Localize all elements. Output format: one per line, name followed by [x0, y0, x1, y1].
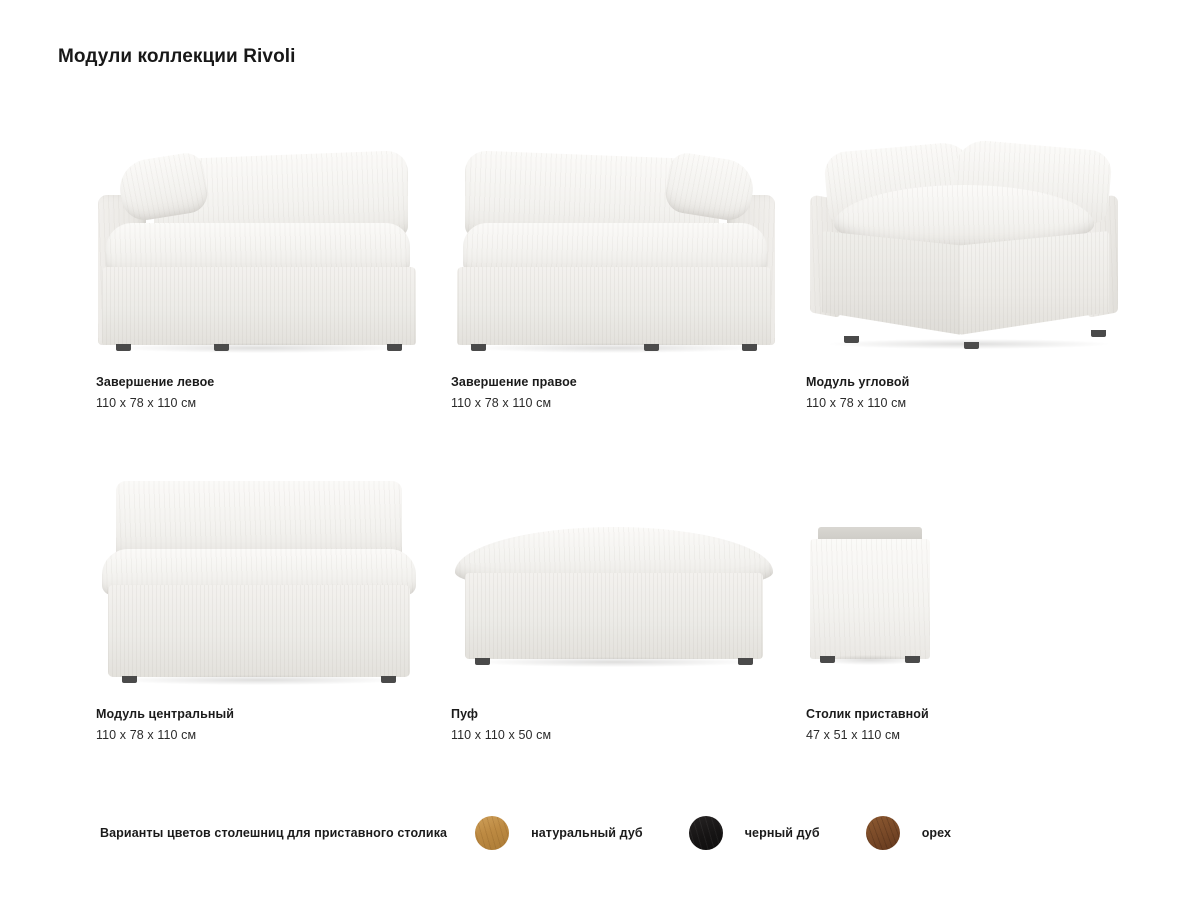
sofa-base — [102, 267, 416, 345]
module-image-pouf — [449, 472, 779, 687]
module-name: Столик приставной — [806, 708, 929, 721]
sofa-base — [457, 267, 771, 345]
pouf-base — [465, 573, 763, 659]
pouf-illustration — [449, 472, 779, 687]
natural-oak-label: натуральный дуб — [531, 826, 643, 840]
catalog-page: Модули коллекции Rivoli — [0, 0, 1200, 900]
color-option-natural-oak[interactable]: натуральный дуб — [475, 816, 643, 850]
side-table-body — [810, 539, 930, 659]
sofa-illustration — [449, 140, 779, 355]
module-card-left-end[interactable]: Завершение левое 110 x 78 x 110 см — [58, 140, 413, 410]
module-card-pouf[interactable]: Пуф 110 x 110 x 50 см — [413, 472, 768, 742]
module-image-corner — [804, 140, 1134, 355]
module-caption: Столик приставной 47 x 51 x 110 см — [806, 708, 929, 741]
sofa-illustration — [94, 472, 424, 687]
module-name: Завершение правое — [451, 376, 577, 389]
module-dimensions: 110 x 78 x 110 см — [96, 729, 234, 742]
sofa-foot — [116, 344, 131, 351]
sofa-back-cushion — [116, 481, 402, 559]
side-table-foot — [820, 656, 835, 663]
sofa-foot — [742, 344, 757, 351]
module-name: Модуль центральный — [96, 708, 234, 721]
sofa-foot — [471, 344, 486, 351]
legend-label: Варианты цветов столешниц для приставног… — [100, 826, 447, 840]
module-dimensions: 110 x 78 x 110 см — [96, 397, 214, 410]
module-card-corner[interactable]: Модуль угловой 110 x 78 x 110 см — [768, 140, 1123, 410]
module-card-center[interactable]: Модуль центральный 110 x 78 x 110 см — [58, 472, 413, 742]
side-table-top — [818, 527, 922, 539]
color-options-legend: Варианты цветов столешниц для приставног… — [100, 816, 951, 850]
black-oak-swatch[interactable] — [689, 816, 723, 850]
module-dimensions: 47 x 51 x 110 см — [806, 729, 929, 742]
sofa-foot — [381, 676, 396, 683]
sofa-foot — [214, 344, 229, 351]
module-caption: Модуль центральный 110 x 78 x 110 см — [96, 708, 234, 741]
module-card-side-table[interactable]: Столик приставной 47 x 51 x 110 см — [768, 472, 1123, 742]
sofa-foot — [1091, 330, 1106, 337]
module-image-left-end — [94, 140, 424, 355]
sofa-illustration — [804, 140, 1134, 355]
sofa-illustration — [94, 140, 424, 355]
sofa-foot — [387, 344, 402, 351]
sofa-foot — [964, 342, 979, 349]
module-image-right-end — [449, 140, 779, 355]
module-name: Пуф — [451, 708, 551, 721]
side-table-illustration — [804, 472, 1134, 687]
black-oak-label: черный дуб — [745, 826, 820, 840]
module-image-side-table — [804, 472, 1134, 687]
module-image-center — [94, 472, 424, 687]
pouf-foot — [738, 658, 753, 665]
color-option-walnut[interactable]: орех — [866, 816, 951, 850]
color-option-black-oak[interactable]: черный дуб — [689, 816, 820, 850]
sofa-foot — [122, 676, 137, 683]
sofa-base-right — [959, 231, 1109, 335]
module-caption: Завершение левое 110 x 78 x 110 см — [96, 376, 214, 409]
natural-oak-swatch[interactable] — [475, 816, 509, 850]
module-name: Завершение левое — [96, 376, 214, 389]
pouf-foot — [475, 658, 490, 665]
module-caption: Пуф 110 x 110 x 50 см — [451, 708, 551, 741]
sofa-foot — [644, 344, 659, 351]
side-table-foot — [905, 656, 920, 663]
module-name: Модуль угловой — [806, 376, 909, 389]
module-caption: Модуль угловой 110 x 78 x 110 см — [806, 376, 909, 409]
module-card-right-end[interactable]: Завершение правое 110 x 78 x 110 см — [413, 140, 768, 410]
module-caption: Завершение правое 110 x 78 x 110 см — [451, 376, 577, 409]
sofa-foot — [844, 336, 859, 343]
walnut-label: орех — [922, 826, 951, 840]
walnut-swatch[interactable] — [866, 816, 900, 850]
sofa-base-left — [822, 231, 962, 335]
page-title: Модули коллекции Rivoli — [58, 46, 296, 68]
module-dimensions: 110 x 78 x 110 см — [451, 397, 577, 410]
module-dimensions: 110 x 110 x 50 см — [451, 729, 551, 742]
sofa-base — [108, 585, 410, 677]
module-grid: Завершение левое 110 x 78 x 110 см — [58, 140, 1148, 742]
module-dimensions: 110 x 78 x 110 см — [806, 397, 909, 410]
